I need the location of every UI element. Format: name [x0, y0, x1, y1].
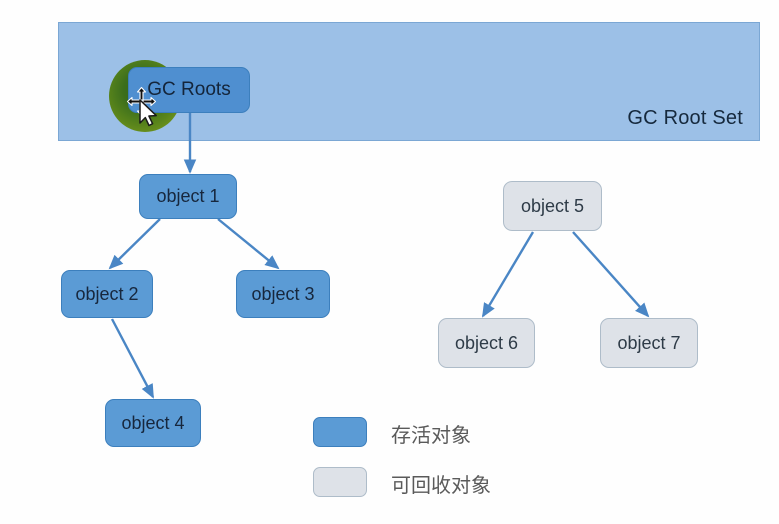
- node-object-7[interactable]: object 7: [600, 318, 698, 368]
- node-label: object 5: [521, 196, 584, 217]
- legend-swatch-alive: [313, 417, 367, 447]
- node-object-6[interactable]: object 6: [438, 318, 535, 368]
- node-object-4[interactable]: object 4: [105, 399, 201, 447]
- diagram-canvas: GC Root Set GC Rootsobject 1object 2obje…: [0, 0, 779, 524]
- legend-label-alive: 存活对象: [391, 419, 471, 448]
- node-gc-roots[interactable]: GC Roots: [128, 67, 250, 113]
- edge-object-1-to-object-3: [218, 219, 278, 268]
- node-label: object 2: [75, 284, 138, 305]
- node-label: object 3: [251, 284, 314, 305]
- gc-root-set-label: GC Root Set: [627, 107, 743, 130]
- edge-object-2-to-object-4: [112, 319, 153, 397]
- node-label: object 1: [156, 186, 219, 207]
- legend-swatch-garbage: [313, 467, 367, 497]
- edge-object-1-to-object-2: [110, 219, 160, 268]
- node-label: object 4: [121, 413, 184, 434]
- node-label: object 7: [617, 333, 680, 354]
- node-object-1[interactable]: object 1: [139, 174, 237, 219]
- edge-object-5-to-object-7: [573, 232, 648, 316]
- node-label: object 6: [455, 333, 518, 354]
- node-label: GC Roots: [147, 79, 230, 101]
- node-object-5[interactable]: object 5: [503, 181, 602, 231]
- node-object-3[interactable]: object 3: [236, 270, 330, 318]
- legend-label-garbage: 可回收对象: [391, 469, 491, 498]
- node-object-2[interactable]: object 2: [61, 270, 153, 318]
- edge-object-5-to-object-6: [483, 232, 533, 316]
